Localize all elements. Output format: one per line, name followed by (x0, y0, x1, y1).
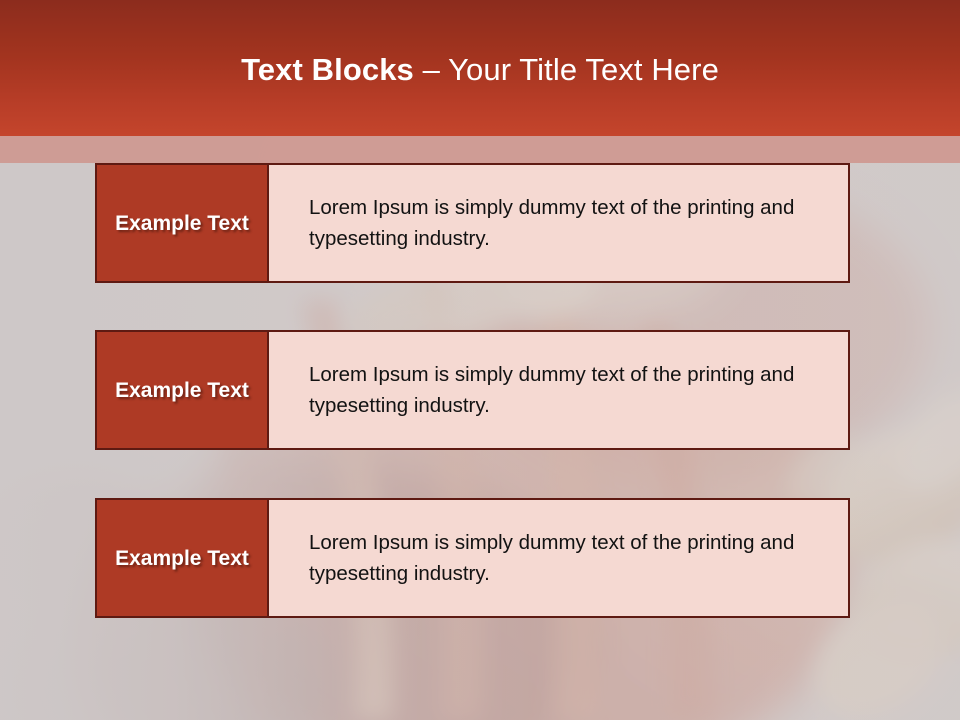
text-block-3-body: Lorem Ipsum is simply dummy text of the … (269, 500, 848, 616)
text-block-2-label: Example Text (97, 332, 269, 448)
page-title-strong: Text Blocks (241, 52, 414, 87)
text-block-3-label: Example Text (97, 500, 269, 616)
text-block-2-body-text: Lorem Ipsum is simply dummy text of the … (309, 359, 801, 421)
text-block-1-label: Example Text (97, 165, 269, 281)
text-block-2[interactable]: Example Text Lorem Ipsum is simply dummy… (95, 330, 850, 450)
text-block-1-body-text: Lorem Ipsum is simply dummy text of the … (309, 192, 801, 254)
text-block-2-body: Lorem Ipsum is simply dummy text of the … (269, 332, 848, 448)
page-title: Text Blocks – Your Title Text Here (0, 51, 960, 89)
header-accent-band (0, 136, 960, 163)
page-title-light: Your Title Text Here (448, 52, 719, 87)
text-block-1[interactable]: Example Text Lorem Ipsum is simply dummy… (95, 163, 850, 283)
page-title-separator: – (414, 52, 448, 87)
text-block-3[interactable]: Example Text Lorem Ipsum is simply dummy… (95, 498, 850, 618)
text-block-3-body-text: Lorem Ipsum is simply dummy text of the … (309, 527, 801, 589)
text-block-1-body: Lorem Ipsum is simply dummy text of the … (269, 165, 848, 281)
presentation-slide: Text Blocks – Your Title Text Here Examp… (0, 0, 960, 720)
